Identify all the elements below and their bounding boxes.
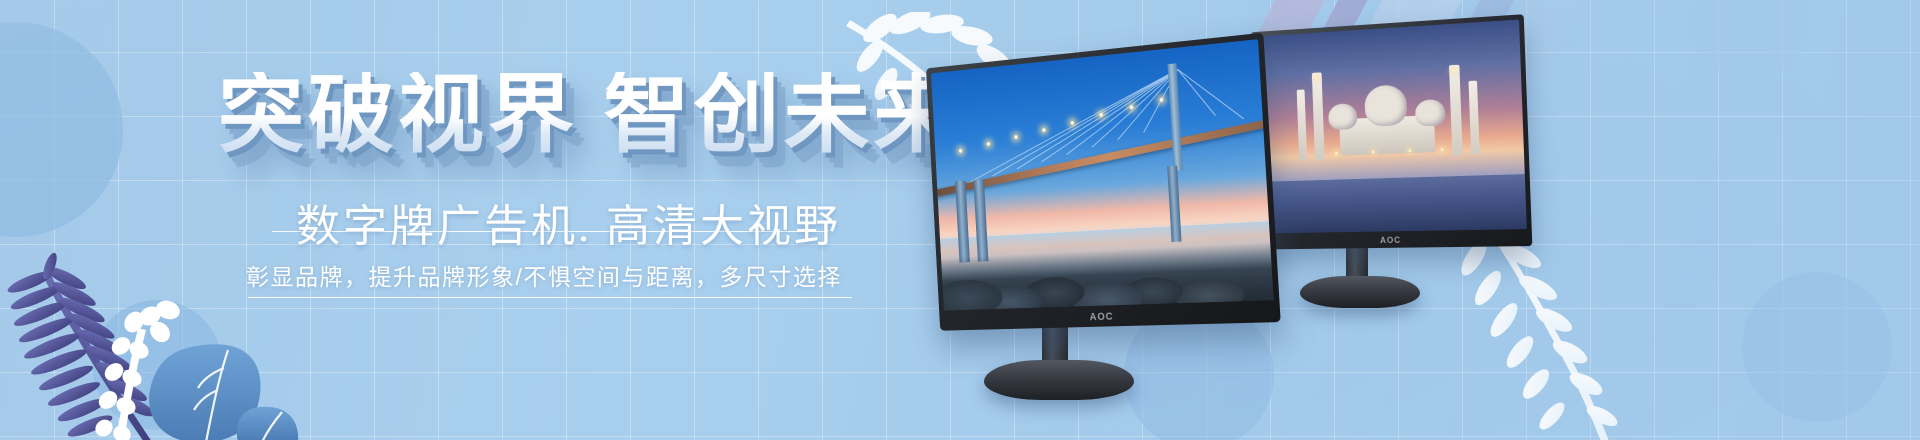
divider-bottom — [248, 297, 852, 298]
monitor-primary: AOC — [880, 32, 1272, 322]
brand-logo-primary: AOC — [1089, 311, 1113, 323]
promo-banner: 突破视界 智创未来 数字牌广告机. 高清大视野 彰显品牌，提升品牌形象/不惧空间… — [0, 0, 1920, 440]
brand-logo-secondary: AOC — [1380, 235, 1401, 245]
page-title: 突破视界 智创未来 — [218, 72, 964, 158]
copy-block: 突破视界 智创未来 数字牌广告机. 高清大视野 彰显品牌，提升品牌形象/不惧空间… — [0, 0, 900, 440]
product-images: AOC — [880, 0, 1920, 440]
tagline: 彰显品牌，提升品牌形象/不惧空间与距离，多尺寸选择 — [246, 258, 842, 292]
monitor-primary-screen — [931, 39, 1274, 310]
monitor-secondary-base — [1300, 276, 1420, 308]
monitor-primary-base — [984, 360, 1134, 400]
monitor-secondary-screen — [1255, 20, 1527, 234]
subtitle: 数字牌广告机. 高清大视野 — [296, 190, 841, 254]
